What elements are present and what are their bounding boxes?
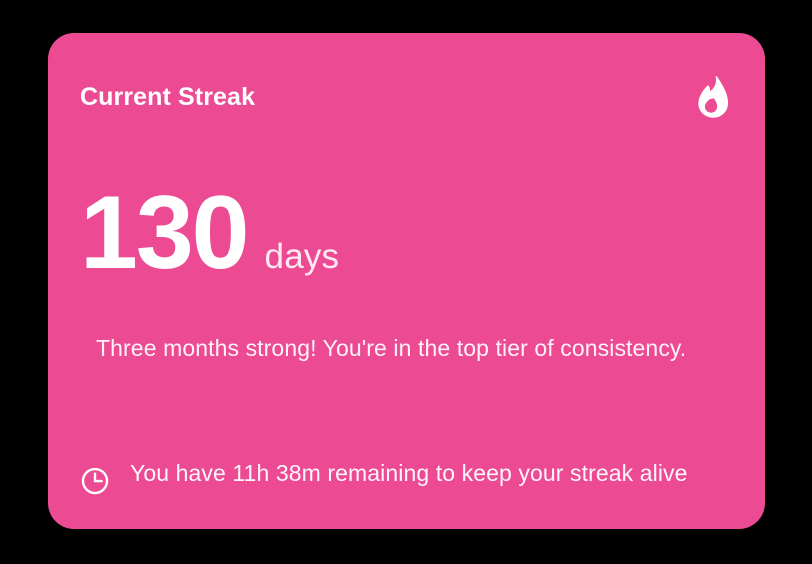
streak-unit: days	[265, 239, 340, 274]
card-header: Current Streak	[80, 77, 733, 117]
clock-icon	[80, 466, 110, 496]
streak-value: 130	[80, 181, 248, 285]
streak-value-row: 130 days	[80, 181, 339, 285]
streak-footer: You have 11h 38m remaining to keep your …	[80, 453, 735, 496]
current-streak-card[interactable]: Current Streak 130 days Three months str…	[48, 33, 765, 529]
screen-root: Current Streak 130 days Three months str…	[0, 0, 812, 564]
streak-footer-text: You have 11h 38m remaining to keep your …	[130, 453, 688, 493]
streak-description: Three months strong! You're in the top t…	[96, 330, 726, 366]
flame-icon	[693, 76, 731, 118]
card-title: Current Streak	[80, 85, 255, 110]
